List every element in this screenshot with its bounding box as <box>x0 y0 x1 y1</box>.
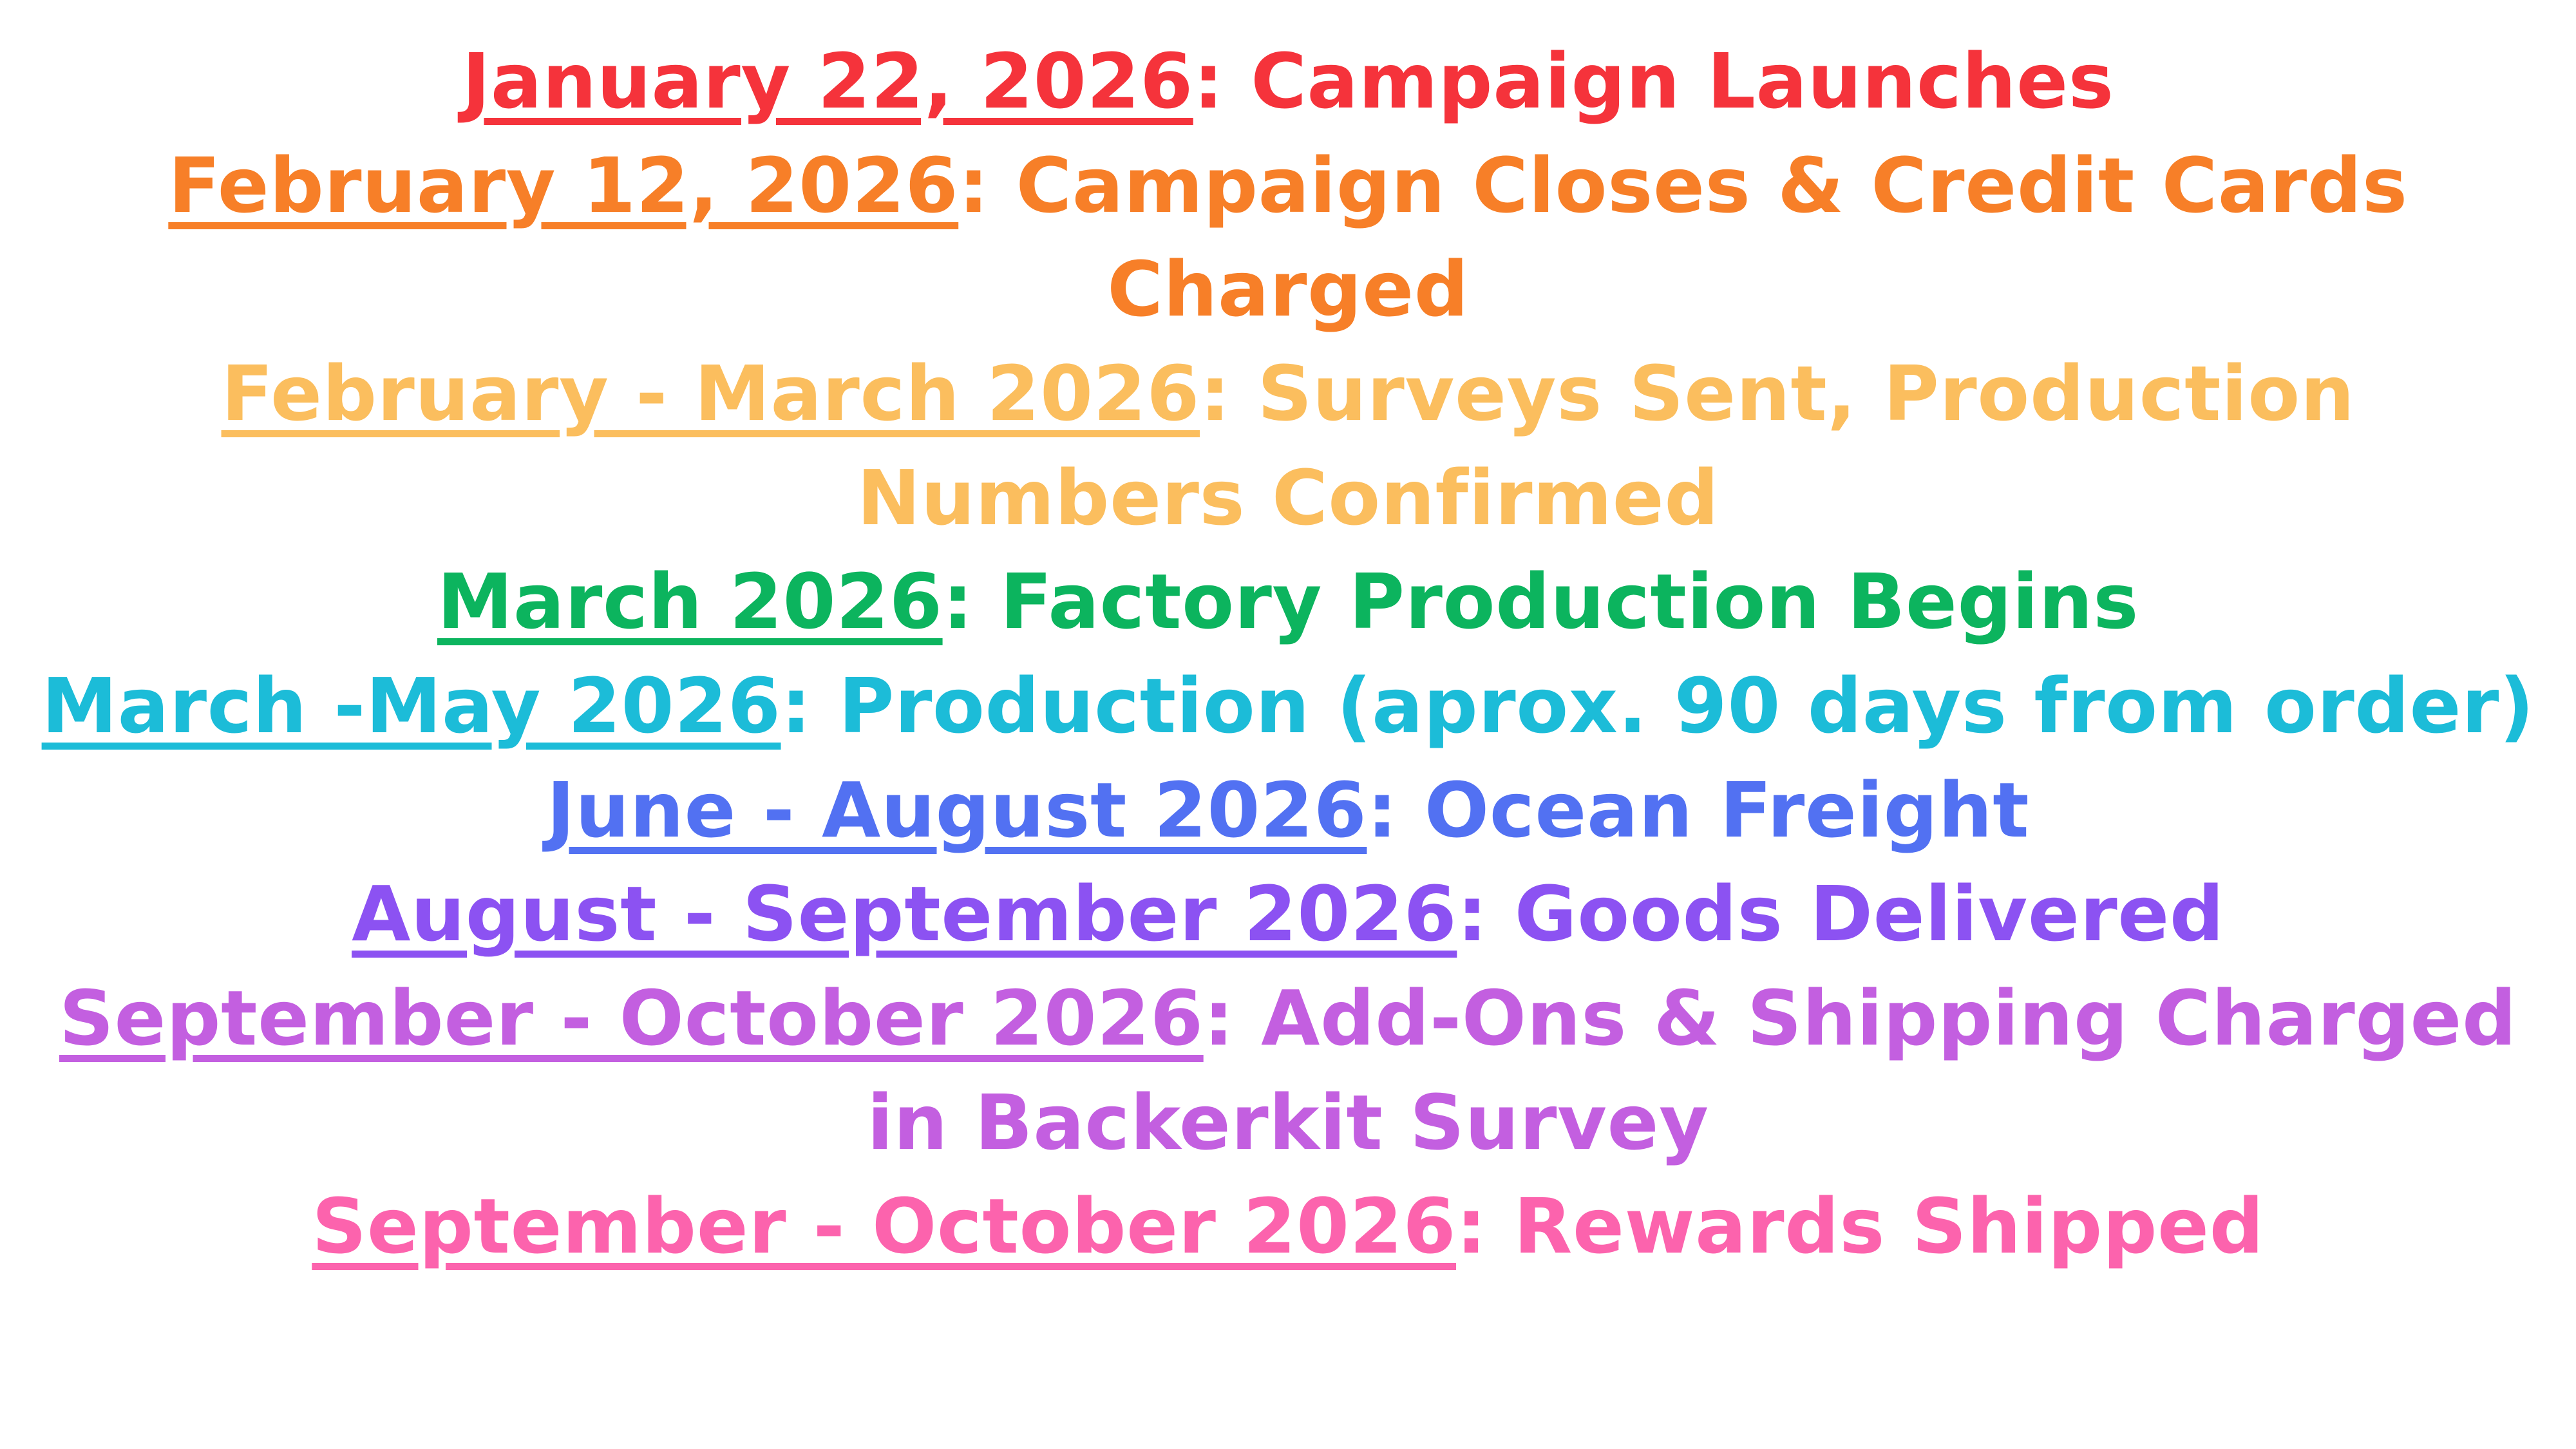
timeline-entry-factory-production-begins: March 2026: Factory Production Begins <box>39 550 2537 654</box>
timeline-entry-separator: : <box>1367 766 1424 855</box>
timeline-entry-date: March 2026 <box>437 557 943 646</box>
timeline-entry-description: Goods Delivered <box>1515 869 2224 958</box>
timeline-entry-text: March 2026: Factory Production Begins <box>39 550 2537 654</box>
timeline-entry-text: September - October 2026: Add-Ons & Ship… <box>39 967 2537 1175</box>
timeline-entry-ocean-freight: June - August 2026: Ocean Freight <box>39 759 2537 863</box>
timeline-entry-text: January 22, 2026: Campaign Launches <box>39 30 2537 134</box>
timeline-entry-separator: : <box>1193 37 1251 126</box>
timeline-entry-date: June - August 2026 <box>547 766 1367 855</box>
timeline-entry-date: March -May 2026 <box>42 661 781 750</box>
timeline-entry-separator: : <box>958 141 1016 230</box>
timeline-entry-separator: : <box>943 557 1000 646</box>
timeline-entry-text: August - September 2026: Goods Delivered <box>39 862 2537 967</box>
timeline-entry-separator: : <box>1456 1182 1513 1271</box>
timeline-entry-separator: : <box>1204 974 1261 1063</box>
timeline-entry-add-ons-shipping-charged: September - October 2026: Add-Ons & Ship… <box>39 967 2537 1175</box>
timeline-entry-description: Rewards Shipped <box>1514 1182 2264 1271</box>
timeline-entry-campaign-launches: January 22, 2026: Campaign Launches <box>39 30 2537 134</box>
timeline-entry-date: September - October 2026 <box>312 1182 1456 1271</box>
timeline-entry-text: February 12, 2026: Campaign Closes & Cre… <box>39 134 2537 342</box>
timeline-entry-text: March -May 2026: Production (aprox. 90 d… <box>39 654 2537 759</box>
timeline-entry-separator: : <box>1200 349 1257 438</box>
timeline-entry-goods-delivered: August - September 2026: Goods Delivered <box>39 862 2537 967</box>
timeline-entry-date: September - October 2026 <box>59 974 1204 1063</box>
timeline-entry-description: Factory Production Begins <box>1000 557 2139 646</box>
timeline-entry-date: August - September 2026 <box>352 869 1457 958</box>
timeline-entry-description: Campaign Launches <box>1251 37 2114 126</box>
timeline-entry-campaign-closes: February 12, 2026: Campaign Closes & Cre… <box>39 134 2537 342</box>
timeline-entry-date: February - March 2026 <box>222 349 1200 438</box>
timeline-entry-description: Production (aprox. 90 days from order) <box>838 661 2534 750</box>
timeline-entry-text: February - March 2026: Surveys Sent, Pro… <box>39 342 2537 550</box>
timeline-entry-separator: : <box>1457 869 1514 958</box>
timeline-entry-date: February 12, 2026 <box>168 141 958 230</box>
timeline-entry-description: Ocean Freight <box>1425 766 2029 855</box>
timeline-entry-production: March -May 2026: Production (aprox. 90 d… <box>39 654 2537 759</box>
timeline-entry-rewards-shipped: September - October 2026: Rewards Shippe… <box>39 1175 2537 1279</box>
timeline-entry-date: January 22, 2026 <box>462 37 1193 126</box>
timeline-entry-surveys-sent: February - March 2026: Surveys Sent, Pro… <box>39 342 2537 550</box>
timeline-entry-text: September - October 2026: Rewards Shippe… <box>39 1175 2537 1279</box>
timeline-entry-text: June - August 2026: Ocean Freight <box>39 759 2537 863</box>
timeline-graphic: January 22, 2026: Campaign LaunchesFebru… <box>0 0 2576 1449</box>
timeline-entry-separator: : <box>781 661 838 750</box>
timeline-entry-description: Campaign Closes & Credit Cards Charged <box>1016 141 2408 334</box>
